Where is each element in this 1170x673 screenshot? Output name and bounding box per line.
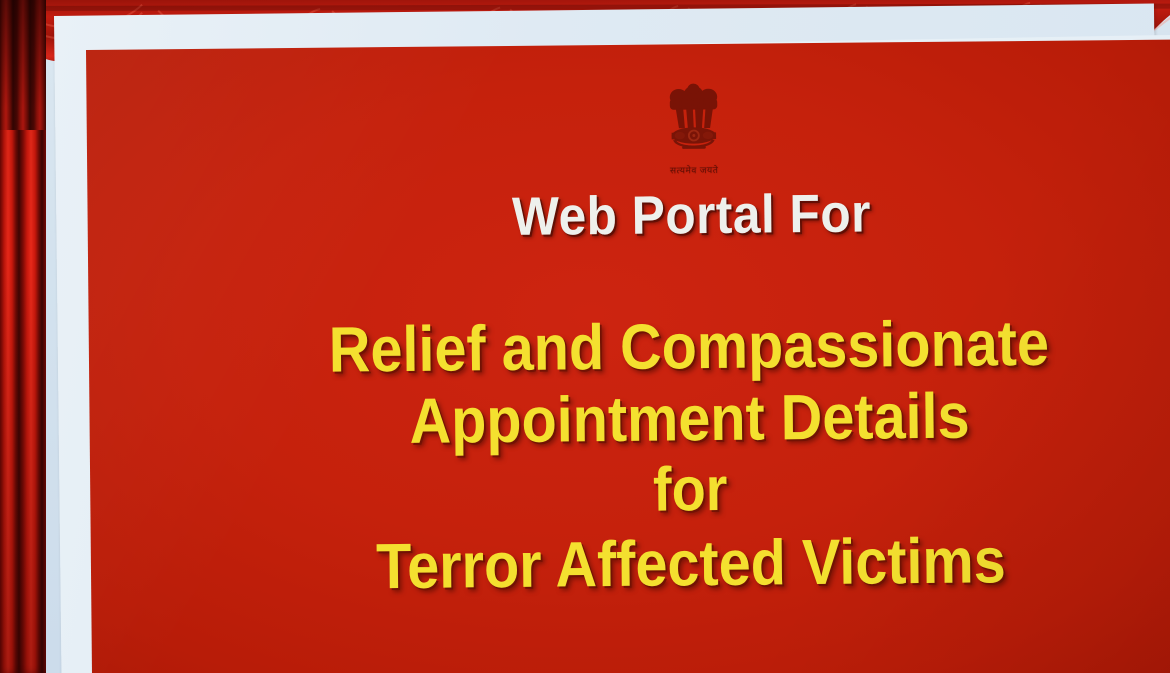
projected-slide: सत्यमेव जयते Web Portal For Relief and C… <box>86 40 1170 673</box>
slide-title-line-3: for <box>249 450 1132 530</box>
slide-heading: Web Portal For <box>131 184 1134 248</box>
red-pleated-side-curtain <box>0 0 46 673</box>
india-national-emblem-lion-capital-icon <box>655 82 732 163</box>
slide-title-line-1: Relief and Compassionate <box>248 306 1131 386</box>
curtain-gathered-top <box>0 0 46 130</box>
slide-title-line-2: Appointment Details <box>248 378 1131 458</box>
presentation-photo-scene: सत्यमेव जयते Web Portal For Relief and C… <box>0 0 1170 673</box>
slide-title-line-4: Terror Affected Victims <box>250 522 1133 604</box>
slide-content: सत्यमेव जयते Web Portal For Relief and C… <box>86 40 1170 673</box>
slide-title-block: Relief and Compassionate Appointment Det… <box>89 306 1170 606</box>
emblem-motto-satyameva-jayate: सत्यमेव जयते <box>670 163 718 176</box>
emblem-block: सत्यमेव जयते <box>86 78 1170 182</box>
